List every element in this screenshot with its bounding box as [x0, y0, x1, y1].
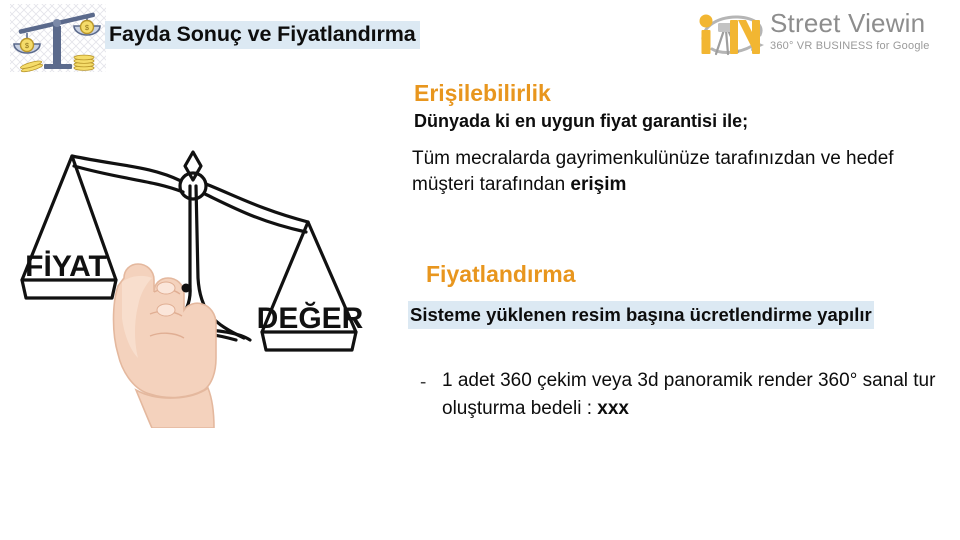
- hand-drawn-balance-scale-illustration: FİYAT DEĞER: [0, 128, 400, 428]
- accessibility-body-plain: Tüm mecralarda gayrimenkulünüze tarafını…: [412, 148, 894, 196]
- pricing-section: Fiyatlandırma Sisteme yüklenen resim baş…: [408, 261, 956, 422]
- brand-name: Street Viewin: [770, 10, 930, 36]
- bullet-text: 1 adet 360 çekim veya 3d panoramik rende…: [442, 367, 942, 422]
- accessibility-section: Erişilebilirlik Dünyada ki en uygun fiya…: [408, 80, 956, 199]
- pricing-heading: Fiyatlandırma: [426, 261, 956, 288]
- bullet-text-plain: 1 adet 360 çekim veya 3d panoramik rende…: [442, 370, 935, 419]
- page-title-container: Fayda Sonuç ve Fiyatlandırma: [105, 20, 420, 50]
- bullet-text-price: xxx: [597, 398, 629, 419]
- brand-tagline: 360° VR BUSINESS for Google: [770, 41, 930, 52]
- right-pan-label: DEĞER: [257, 301, 364, 335]
- pricing-bullet-list: - 1 adet 360 çekim veya 3d panoramik ren…: [420, 367, 956, 422]
- accessibility-lead: Dünyada ki en uygun fiyat garantisi ile;: [414, 110, 956, 133]
- street-viewin-in-monogram-icon: [694, 4, 768, 62]
- left-pan-label: FİYAT: [25, 250, 107, 283]
- accessibility-body-emphasis: erişim: [570, 174, 626, 195]
- list-item: - 1 adet 360 çekim veya 3d panoramik ren…: [420, 367, 956, 422]
- svg-text:$: $: [85, 25, 89, 32]
- content-column: Erişilebilirlik Dünyada ki en uygun fiya…: [408, 80, 956, 422]
- slide-canvas: $ $ Fayda Sonuç ve Fiyatlandırma: [0, 0, 960, 540]
- bullet-dash-marker: -: [420, 367, 442, 397]
- balance-scale-coins-icon: $ $: [8, 2, 108, 74]
- svg-text:$: $: [25, 43, 29, 50]
- accessibility-heading: Erişilebilirlik: [414, 80, 956, 107]
- pricing-highlight-line: Sisteme yüklenen resim başına ücretlendi…: [408, 301, 874, 330]
- brand-logo: Street Viewin 360° VR BUSINESS for Googl…: [694, 4, 944, 66]
- accessibility-body: Tüm mecralarda gayrimenkulünüze tarafını…: [412, 146, 932, 200]
- page-title: Fayda Sonuç ve Fiyatlandırma: [105, 21, 420, 49]
- brand-text-block: Street Viewin 360° VR BUSINESS for Googl…: [770, 4, 930, 52]
